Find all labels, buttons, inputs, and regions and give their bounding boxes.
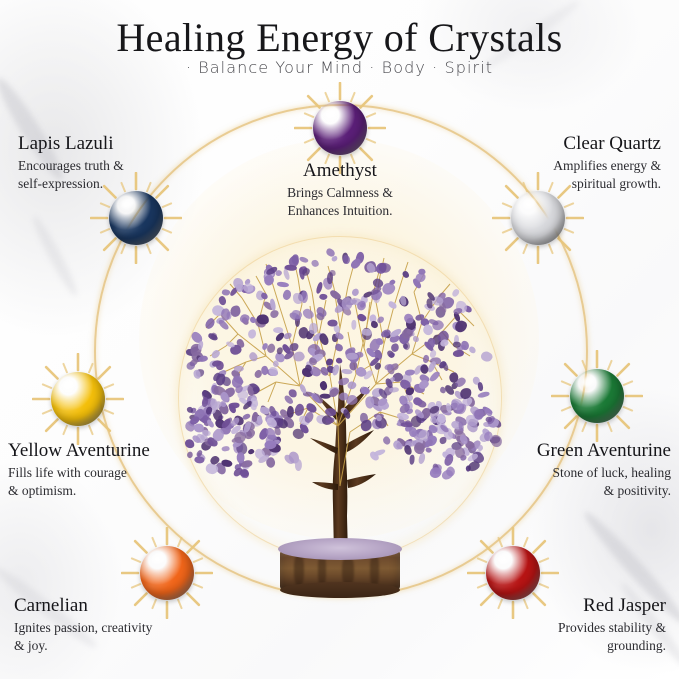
amethyst-chip — [371, 321, 378, 328]
page-title: Healing Energy of Crystals — [0, 14, 679, 61]
crystal-description-line-2: self-expression. — [18, 175, 208, 193]
wood-grain — [294, 554, 304, 586]
crystal-name: Lapis Lazuli — [18, 133, 208, 155]
sphere-reflection — [114, 215, 142, 237]
crystal-sphere-green-aventurine[interactable] — [570, 369, 624, 423]
amethyst-chip — [342, 255, 350, 264]
crystal-name: Green Aventurine — [474, 440, 671, 462]
crystal-sphere-amethyst[interactable] — [313, 101, 367, 155]
infographic-canvas: Healing Energy of Crystals · Balance You… — [0, 0, 679, 679]
crystal-description: Provides stability &grounding. — [466, 619, 666, 655]
amethyst-chip — [325, 417, 334, 423]
sphere-highlight — [496, 551, 512, 565]
crystal-description-line-1: Provides stability & — [466, 619, 666, 637]
sphere-reflection — [145, 570, 173, 592]
amethyst-chip — [253, 387, 260, 393]
sphere-reflection — [56, 396, 84, 418]
amethyst-chip — [277, 281, 289, 287]
amethyst-chip — [454, 447, 464, 458]
crystal-label-carnelian: CarnelianIgnites passion, creativity& jo… — [14, 595, 214, 655]
crystal-description-line-2: spiritual growth. — [471, 175, 661, 193]
crystal-label-yellow-aventurine: Yellow AventurineFills life with courage… — [8, 440, 203, 500]
wooden-log-base — [278, 538, 402, 600]
crystal-sphere-clear-quartz[interactable] — [511, 191, 565, 245]
sphere-body — [570, 369, 624, 423]
crystal-name: Red Jasper — [466, 595, 666, 617]
crystal-description: Brings Calmness &Enhances Intuition. — [225, 184, 455, 220]
crystal-description-line-1: Brings Calmness & — [225, 184, 455, 202]
amethyst-chip — [408, 427, 416, 437]
crystal-label-green-aventurine: Green AventurineStone of luck, healing& … — [474, 440, 671, 500]
sphere-highlight — [323, 106, 339, 120]
sphere-reflection — [318, 125, 346, 147]
crystal-description-line-2: grounding. — [466, 637, 666, 655]
crystal-description-line-1: Encourages truth & — [18, 157, 208, 175]
crystal-description-line-2: Enhances Intuition. — [225, 202, 455, 220]
sphere-reflection — [491, 570, 519, 592]
marble-vein — [29, 213, 82, 298]
sphere-reflection — [575, 393, 603, 415]
crystal-name: Yellow Aventurine — [8, 440, 203, 462]
crystal-description-line-2: & positivity. — [474, 482, 671, 500]
amethyst-chip — [399, 295, 406, 305]
crystal-description-line-1: Amplifies energy & — [471, 157, 661, 175]
sphere-highlight — [580, 374, 596, 388]
amethyst-chip — [401, 422, 413, 428]
crystal-label-red-jasper: Red JasperProvides stability &grounding. — [466, 595, 666, 655]
crystal-sphere-lapis-lazuli[interactable] — [109, 191, 163, 245]
sphere-highlight — [119, 196, 135, 210]
amethyst-crystal-tree — [180, 236, 500, 596]
sphere-highlight — [521, 196, 537, 210]
crystal-name: Carnelian — [14, 595, 214, 617]
crystal-name: Clear Quartz — [471, 133, 661, 155]
sphere-highlight — [150, 551, 166, 565]
amethyst-chip — [351, 320, 357, 330]
crystal-description: Fills life with courage& optimism. — [8, 464, 203, 500]
amethyst-chip — [194, 370, 201, 379]
amethyst-chip — [326, 272, 333, 284]
amethyst-chip-bed — [278, 538, 402, 560]
crystal-label-amethyst: AmethystBrings Calmness &Enhances Intuit… — [225, 160, 455, 220]
crystal-description-line-1: Fills life with courage — [8, 464, 203, 482]
crystal-description-line-2: & joy. — [14, 637, 214, 655]
crystal-description: Encourages truth &self-expression. — [18, 157, 208, 193]
sphere-body — [140, 546, 194, 600]
amethyst-chip — [396, 412, 408, 420]
crystal-description: Ignites passion, creativity& joy. — [14, 619, 214, 655]
sphere-body — [486, 546, 540, 600]
sphere-body — [109, 191, 163, 245]
crystal-name: Amethyst — [225, 160, 455, 182]
amethyst-chip — [412, 336, 419, 343]
crystal-description-line-1: Stone of luck, healing — [474, 464, 671, 482]
crystal-sphere-yellow-aventurine[interactable] — [51, 372, 105, 426]
amethyst-chip — [362, 328, 372, 335]
sphere-reflection — [516, 215, 544, 237]
crystal-label-clear-quartz: Clear QuartzAmplifies energy &spiritual … — [471, 133, 661, 193]
sphere-highlight — [61, 377, 77, 391]
crystal-description: Amplifies energy &spiritual growth. — [471, 157, 661, 193]
sphere-body — [51, 372, 105, 426]
crystal-label-lapis-lazuli: Lapis LazuliEncourages truth &self-expre… — [18, 133, 208, 193]
sphere-body — [511, 191, 565, 245]
crystal-description-line-1: Ignites passion, creativity — [14, 619, 214, 637]
page-subtitle: · Balance Your Mind · Body · Spirit — [0, 58, 679, 77]
crystal-sphere-carnelian[interactable] — [140, 546, 194, 600]
crystal-description-line-2: & optimism. — [8, 482, 203, 500]
crystal-sphere-red-jasper[interactable] — [486, 546, 540, 600]
crystal-description: Stone of luck, healing& positivity. — [474, 464, 671, 500]
sphere-body — [313, 101, 367, 155]
log-bottom — [280, 582, 400, 598]
